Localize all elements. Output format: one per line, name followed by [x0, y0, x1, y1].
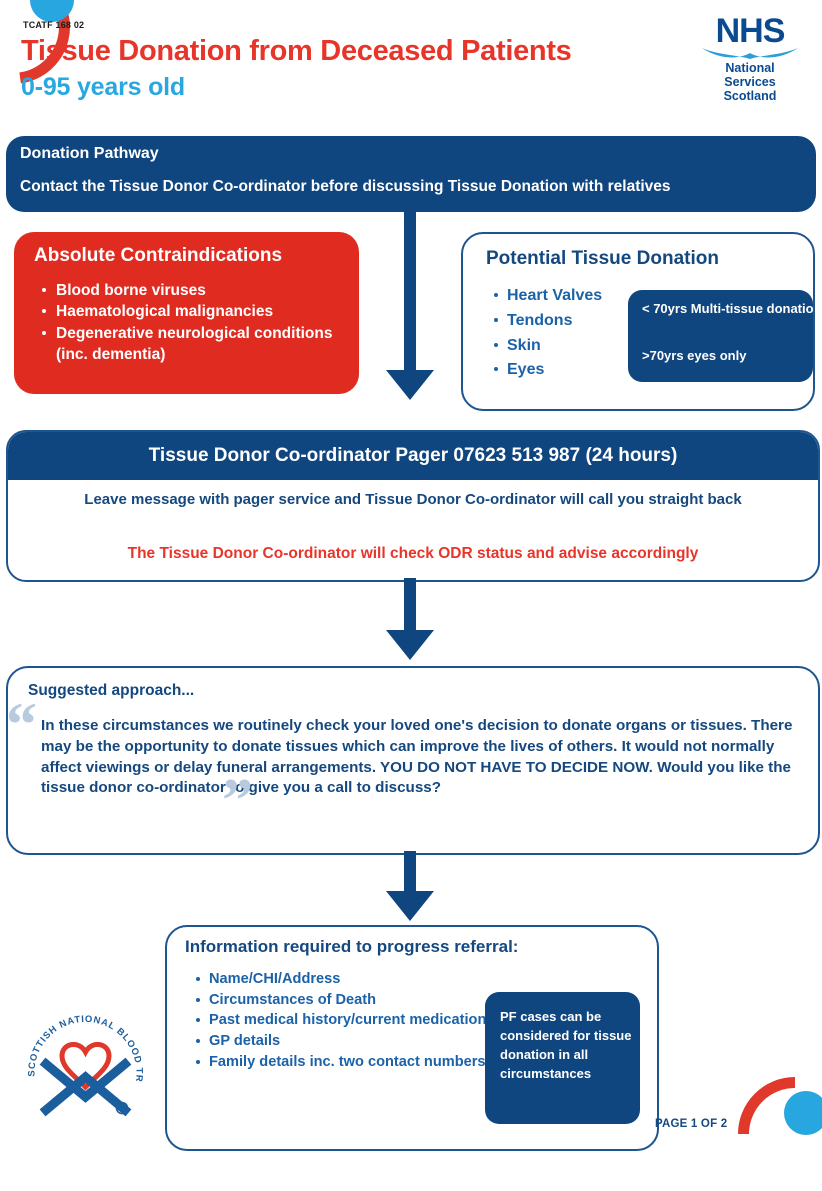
- age-criteria-note: < 70yrs Multi-tissue donation >70yrs eye…: [628, 290, 813, 382]
- potential-tissue-donation-box: Potential Tissue Donation Heart Valves T…: [461, 232, 815, 411]
- pf-cases-note: PF cases can be considered for tissue do…: [485, 992, 640, 1124]
- list-item: Tendons: [507, 309, 602, 334]
- nhs-swoosh-icon: [696, 47, 804, 60]
- age-note-line1: < 70yrs Multi-tissue donation: [642, 301, 813, 318]
- flow-arrow-down-3: [386, 851, 434, 927]
- snbts-logo-icon: SCOTTISH NATIONAL BLOOD TRANSFUSION SERV…: [18, 1000, 153, 1135]
- snbts-logo: SCOTTISH NATIONAL BLOOD TRANSFUSION SERV…: [18, 1000, 153, 1135]
- arrow-stem: [404, 578, 416, 634]
- svg-text:SCOTTISH NATIONAL BLOOD TRANSF: SCOTTISH NATIONAL BLOOD TRANSFUSION SERV…: [18, 1000, 146, 1083]
- arrow-head-icon: [386, 630, 434, 660]
- pathway-instruction: Contact the Tissue Donor Co-ordinator be…: [20, 178, 671, 196]
- contraindications-list: Blood borne viruses Haematological malig…: [34, 280, 359, 366]
- page-title: Tissue Donation from Deceased Patients: [21, 36, 661, 67]
- list-item: Name/CHI/Address: [209, 969, 519, 990]
- flow-arrow-down-1: [386, 212, 434, 272]
- quote-open-icon: “: [6, 694, 37, 756]
- nhs-wordmark: NHS: [696, 14, 804, 48]
- approach-heading: Suggested approach...: [28, 682, 194, 700]
- information-required-list: Name/CHI/Address Circumstances of Death …: [189, 969, 519, 1073]
- list-item: Skin: [507, 334, 602, 359]
- arrow-head-icon: [386, 891, 434, 921]
- quote-close-icon: ”: [222, 770, 253, 832]
- document-page: TCATF 168 02 Tissue Donation from Deceas…: [0, 0, 822, 1181]
- absolute-contraindications-box: Absolute Contraindications Blood borne v…: [14, 232, 359, 394]
- pager-contact-box: Tissue Donor Co-ordinator Pager 07623 51…: [6, 430, 820, 582]
- donation-pathway-banner: Donation Pathway Contact the Tissue Dono…: [6, 136, 816, 212]
- nhs-scotland-logo: NHS National Services Scotland: [696, 14, 804, 103]
- potential-donation-heading: Potential Tissue Donation: [486, 248, 719, 270]
- pager-odr-note: The Tissue Donor Co-ordinator will check…: [48, 545, 778, 563]
- arrow-stem: [404, 851, 416, 895]
- pager-message: Leave message with pager service and Tis…: [68, 490, 758, 510]
- page-number-label: PAGE 1 OF 2: [655, 1118, 727, 1130]
- list-item: GP details: [209, 1031, 519, 1052]
- list-item: Blood borne viruses: [56, 280, 359, 301]
- pager-header-bar: Tissue Donor Co-ordinator Pager 07623 51…: [8, 432, 818, 480]
- arrow-stem: [404, 212, 416, 374]
- nhs-logo-line1: National: [696, 61, 804, 75]
- list-item: Eyes: [507, 358, 602, 383]
- pager-number-text: Tissue Donor Co-ordinator Pager 07623 51…: [149, 445, 678, 467]
- list-item: Haematological malignancies: [56, 301, 359, 322]
- age-note-line2: >70yrs eyes only: [642, 348, 746, 363]
- blue-circle-decoration-bottom-right: [784, 1091, 822, 1135]
- page-subtitle: 0-95 years old: [21, 73, 185, 102]
- list-item: Family details inc. two contact numbers: [209, 1052, 519, 1073]
- contraindications-heading: Absolute Contraindications: [34, 245, 282, 267]
- document-code: TCATF 168 02: [23, 20, 84, 30]
- information-required-box: Information required to progress referra…: [165, 925, 659, 1151]
- list-item: Heart Valves: [507, 284, 602, 309]
- list-item: Past medical history/current medication: [209, 1010, 519, 1031]
- flow-arrow-down-2: [386, 578, 434, 664]
- nhs-logo-line3: Scotland: [696, 89, 804, 103]
- svg-text:R: R: [119, 1106, 124, 1113]
- list-item: Circumstances of Death: [209, 990, 519, 1011]
- information-required-heading: Information required to progress referra…: [185, 937, 518, 957]
- approach-script-text: In these circumstances we routinely chec…: [41, 716, 801, 799]
- pathway-heading: Donation Pathway: [20, 145, 159, 163]
- suggested-approach-box: Suggested approach... In these circumsta…: [6, 666, 820, 855]
- arrow-head-icon: [386, 370, 434, 400]
- list-item: Degenerative neurological conditions (in…: [56, 323, 359, 366]
- nhs-logo-line2: Services: [696, 75, 804, 89]
- pf-note-text: PF cases can be considered for tissue do…: [500, 1008, 632, 1083]
- potential-donation-list: Heart Valves Tendons Skin Eyes: [487, 284, 602, 383]
